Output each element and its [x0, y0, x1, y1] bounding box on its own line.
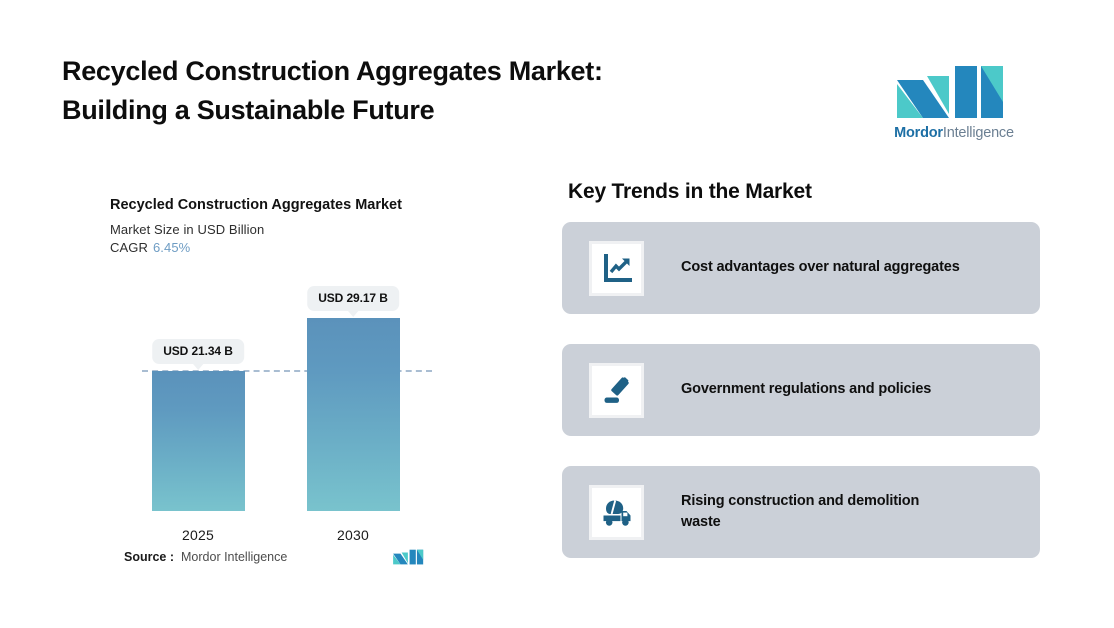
trends-panel: Key Trends in the Market Cost advantages…	[562, 180, 1040, 588]
trend-icon-box	[589, 363, 644, 418]
brand-word-two: Intelligence	[943, 125, 1014, 141]
trends-title: Key Trends in the Market	[568, 180, 1040, 204]
trend-label: Cost advantages over natural aggregates	[681, 257, 961, 278]
chart-panel: Recycled Construction Aggregates Market …	[110, 196, 450, 576]
trend-icon-box	[589, 241, 644, 296]
cagr-label: CAGR	[110, 240, 148, 255]
brand-wordmark: MordorIntelligence	[893, 125, 1015, 141]
source-label: Source :	[124, 550, 174, 564]
source-logo-mark	[392, 548, 426, 565]
trend-icon-box	[589, 485, 644, 540]
bar-2030	[307, 318, 400, 511]
brand-word-one: Mordor	[894, 125, 943, 141]
gavel-icon	[600, 373, 634, 407]
trend-card-construction-waste: Rising construction and demolition waste	[562, 466, 1040, 558]
cement-mixer-truck-icon	[600, 495, 634, 529]
trend-label: Government regulations and policies	[681, 379, 961, 400]
trend-card-cost-advantages: Cost advantages over natural aggregates	[562, 222, 1040, 314]
chart-source: Source : Mordor Intelligence	[124, 548, 450, 565]
chart-cagr: CAGR6.45%	[110, 240, 450, 255]
bar-chart-plot: USD 21.34 B USD 29.17 B 2025 2030	[110, 291, 450, 521]
trend-label: Rising construction and demolition waste	[681, 491, 961, 533]
chart-title: Recycled Construction Aggregates Market	[110, 196, 402, 215]
x-axis-tick-2030: 2030	[337, 527, 369, 543]
bar-2025	[152, 371, 245, 511]
growth-chart-icon	[600, 251, 634, 285]
chart-subtitle: Market Size in USD Billion	[110, 222, 450, 237]
mordor-logo-mark	[893, 62, 1013, 118]
header: Recycled Construction Aggregates Market:…	[62, 52, 822, 130]
x-axis-tick-2025: 2025	[182, 527, 214, 543]
source-value: Mordor Intelligence	[181, 550, 287, 564]
bar-value-label-2030: USD 29.17 B	[307, 286, 399, 311]
page-title: Recycled Construction Aggregates Market:…	[62, 52, 822, 130]
bar-value-label-2025: USD 21.34 B	[152, 339, 244, 364]
cagr-value: 6.45%	[153, 240, 190, 255]
brand-logo: MordorIntelligence	[893, 62, 1015, 141]
trend-card-government-regulations: Government regulations and policies	[562, 344, 1040, 436]
